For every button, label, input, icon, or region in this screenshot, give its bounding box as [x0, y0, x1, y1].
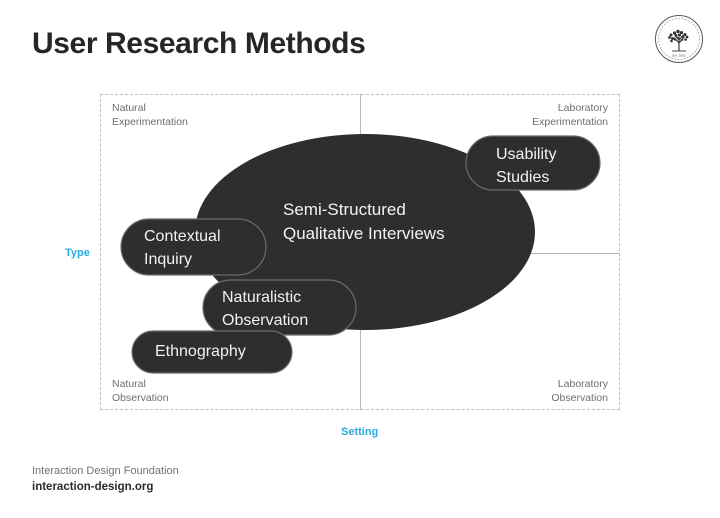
- shape-contextual-inquiry[interactable]: [121, 219, 266, 275]
- method-shapes-group: [0, 0, 720, 518]
- shape-ethnography[interactable]: [132, 331, 292, 373]
- footer-organization: Interaction Design Foundation: [32, 463, 179, 479]
- slide-canvas: User Research Methods Est. 2002: [0, 0, 720, 518]
- shape-naturalistic-observation[interactable]: [203, 280, 356, 335]
- footer-url[interactable]: interaction-design.org: [32, 479, 179, 495]
- footer: Interaction Design Foundation interactio…: [32, 463, 179, 495]
- shape-usability-studies[interactable]: [466, 136, 600, 190]
